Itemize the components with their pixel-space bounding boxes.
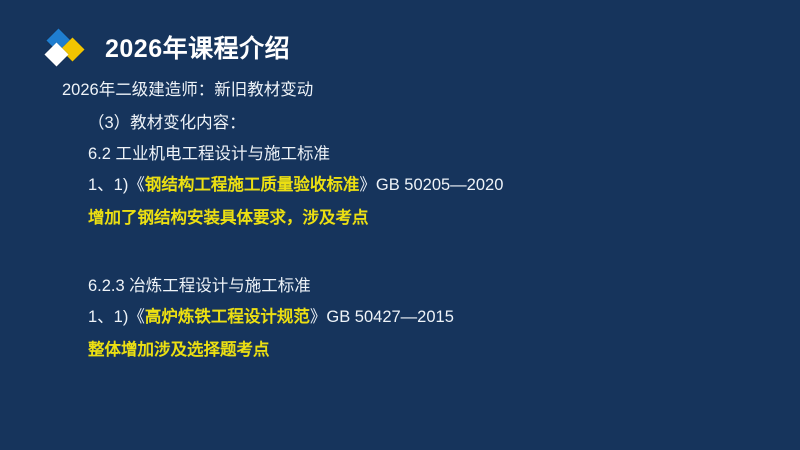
slide-header: 2026年课程介绍 (44, 28, 290, 70)
block-1-heading: 6.2 工业机电工程设计与施工标准 (88, 146, 800, 163)
section-label: （3）教材变化内容： (88, 115, 800, 132)
block-spacer (0, 240, 800, 278)
block-1-note: 增加了钢结构安装具体要求，涉及考点 (88, 210, 800, 227)
block-2-note: 整体增加涉及选择题考点 (88, 342, 800, 359)
lead-text: 2026年二级建造师：新旧教材变动 (62, 82, 800, 99)
block-1-standard-name: 钢结构工程施工质量验收标准 (145, 176, 360, 194)
page-title: 2026年课程介绍 (105, 37, 290, 62)
block-2-standard-prefix: 1、1)《 (88, 308, 145, 326)
diamond-logo (44, 29, 90, 69)
block-2-standard-suffix: 》GB 50427—2015 (310, 308, 454, 326)
block-1-standard-prefix: 1、1)《 (88, 176, 145, 194)
block-2-heading: 6.2.3 冶炼工程设计与施工标准 (88, 278, 800, 295)
block-1-standard: 1、1)《钢结构工程施工质量验收标准》GB 50205—2020 (88, 177, 800, 194)
block-2-standard: 1、1)《高炉炼铁工程设计规范》GB 50427—2015 (88, 309, 800, 326)
slide-body: 2026年二级建造师：新旧教材变动 （3）教材变化内容： 6.2 工业机电工程设… (0, 82, 800, 372)
block-2-standard-name: 高炉炼铁工程设计规范 (145, 308, 310, 326)
block-1-standard-suffix: 》GB 50205—2020 (359, 176, 503, 194)
presentation-slide: 2026年课程介绍 2026年二级建造师：新旧教材变动 （3）教材变化内容： 6… (0, 0, 800, 450)
